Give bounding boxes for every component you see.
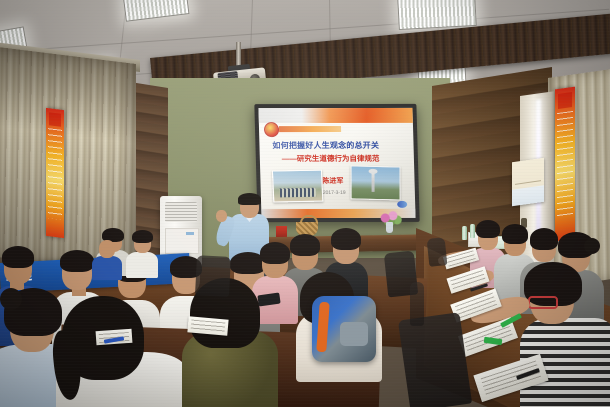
presenter-hair	[238, 193, 261, 205]
note-paper	[187, 316, 228, 335]
presenter-hand	[216, 210, 227, 222]
flower-vase	[386, 222, 393, 233]
projection-screen-surface: 如何把握好人生观念的总开关 ——研究生道德行为自律规范 陈进军 2017-3-1…	[258, 108, 415, 218]
eyeglasses-icon	[528, 296, 558, 309]
ceiling-light	[397, 0, 477, 30]
chair-back	[410, 282, 424, 326]
slide-presenter-name: 陈进军	[322, 176, 343, 186]
photo-canvas: 如何把握好人生观念的总开关 ——研究生道德行为自律规范 陈进军 2017-3-1…	[0, 0, 610, 407]
slide-photo-left	[272, 170, 323, 203]
water-bottle	[462, 226, 467, 240]
air-conditioner-display	[186, 232, 194, 235]
slide-photo-right	[351, 165, 401, 200]
water-bottle	[470, 224, 475, 238]
wall-banner-right	[555, 87, 575, 242]
slide-logo-icon	[264, 122, 279, 137]
slide-footer-logo-icon	[397, 201, 407, 208]
chair-back	[195, 255, 231, 297]
backpack-pocket	[340, 322, 368, 346]
air-conditioner-grille	[165, 202, 197, 222]
wall-banner-left	[46, 108, 64, 238]
slide-date: 2017-3-19	[323, 190, 346, 196]
slide-title-line-1: 如何把握好人生观念的总开关	[272, 141, 405, 150]
slide-subheader-bar	[279, 126, 341, 132]
chair-back	[398, 312, 472, 407]
projection-screen-frame: 如何把握好人生观念的总开关 ——研究生道德行为自律规范 陈进军 2017-3-1…	[254, 104, 419, 222]
slide-header-strip	[258, 108, 412, 123]
chair-back	[427, 237, 448, 267]
slide-title-line-2: ——研究生道德行为自律规范	[282, 154, 406, 163]
